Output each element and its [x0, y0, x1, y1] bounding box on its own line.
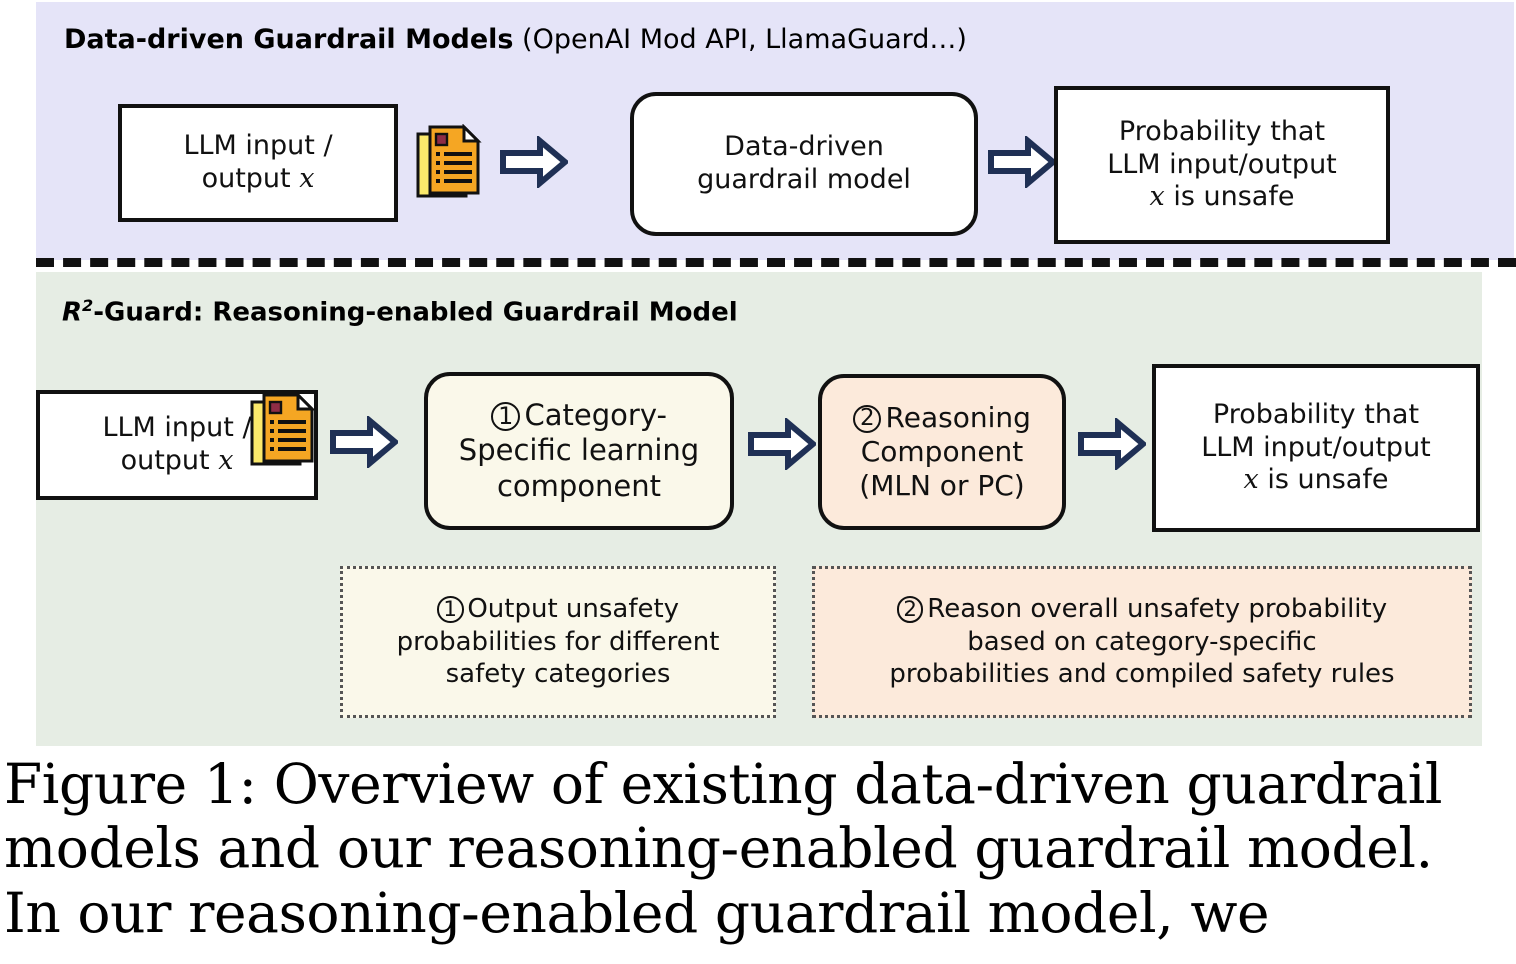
category-component-line1: Category-	[525, 398, 667, 432]
step-2-note-line1: Reason overall unsafety probability	[927, 594, 1387, 624]
reasoning-component-line1: Reasoning	[886, 401, 1031, 434]
output-line2-top: LLM input/output	[1107, 149, 1337, 180]
section-divider	[36, 258, 1516, 267]
step-1-note-text: 1Output unsafety probabilities for diffe…	[397, 593, 720, 691]
output-probability-box-bottom: Probability that LLM input/output x is u…	[1152, 364, 1480, 532]
right-arrow-icon	[988, 136, 1056, 192]
step-1-note-line3: safety categories	[446, 659, 671, 689]
output-probability-text-top: Probability that LLM input/output x is u…	[1099, 116, 1345, 215]
r2guard-title-r: R	[62, 298, 82, 328]
llm-input-line2-top: output	[202, 163, 300, 194]
caption-line-3: In our reasoning-enabled guardrail model…	[4, 881, 1516, 945]
output-probability-text-bottom: Probability that LLM input/output x is u…	[1193, 399, 1439, 498]
data-driven-model-line2: guardrail model	[697, 164, 911, 195]
output-line3-bottom: is unsafe	[1259, 464, 1389, 495]
llm-input-box-top: LLM input / output x	[118, 104, 398, 222]
step-1-badge: 1	[491, 402, 520, 431]
output-line2-bottom: LLM input/output	[1201, 432, 1431, 463]
category-specific-learning-component-box: 1Category- Specific learning component	[424, 372, 734, 530]
step-1-note-line2: probabilities for different	[397, 627, 720, 657]
llm-input-box-top-text: LLM input / output x	[175, 130, 340, 196]
reasoning-component-text: 2Reasoning Component (MLN or PC)	[845, 401, 1039, 503]
output-line1-bottom: Probability that	[1213, 399, 1419, 430]
data-driven-title-bold: Data-driven Guardrail Models	[64, 24, 513, 55]
step-2-note-line2: based on category-specific	[967, 627, 1316, 657]
data-driven-title-rest: (OpenAI Mod API, LlamaGuard…)	[513, 24, 966, 55]
llm-input-line1-bottom: LLM input /	[102, 412, 251, 443]
output-var-bottom: x	[1244, 464, 1259, 495]
figure-caption: Figure 1: Overview of existing data-driv…	[4, 752, 1516, 945]
step-1-note: 1Output unsafety probabilities for diffe…	[340, 566, 776, 718]
document-icon	[250, 392, 318, 472]
reasoning-component-box: 2Reasoning Component (MLN or PC)	[818, 374, 1066, 530]
llm-input-var-top: x	[299, 163, 314, 194]
data-driven-model-text: Data-driven guardrail model	[689, 131, 919, 197]
r2guard-title-rest: -Guard: Reasoning-enabled Guardrail Mode…	[93, 298, 737, 328]
output-line1-top: Probability that	[1119, 116, 1325, 147]
data-driven-guardrail-model-box: Data-driven guardrail model	[630, 92, 978, 236]
r2guard-title-superscript: 2	[82, 296, 93, 315]
reasoning-component-line3: (MLN or PC)	[859, 469, 1024, 502]
category-component-line2: Specific learning	[459, 433, 699, 467]
llm-input-line1-top: LLM input /	[183, 130, 332, 161]
step-2-badge: 2	[853, 405, 881, 433]
right-arrow-icon	[1078, 418, 1146, 474]
step-2-note-text: 2Reason overall unsafety probability bas…	[889, 593, 1394, 691]
right-arrow-icon	[748, 418, 816, 474]
right-arrow-icon	[330, 416, 398, 472]
step-1-note-badge: 1	[437, 596, 464, 623]
step-1-note-line1: Output unsafety	[467, 594, 679, 624]
figure-root: Data-driven Guardrail Models (OpenAI Mod…	[0, 0, 1516, 964]
right-arrow-icon	[500, 136, 568, 192]
caption-line-2: models and our reasoning-enabled guardra…	[4, 816, 1516, 880]
step-2-note-line3: probabilities and compiled safety rules	[889, 659, 1394, 689]
reasoning-component-line2: Component	[861, 435, 1024, 468]
caption-line-1: Figure 1: Overview of existing data-driv…	[4, 752, 1516, 816]
data-driven-section-title: Data-driven Guardrail Models (OpenAI Mod…	[64, 24, 967, 55]
output-var-top: x	[1150, 181, 1165, 212]
output-line3-top: is unsafe	[1165, 181, 1295, 212]
category-component-text: 1Category- Specific learning component	[451, 398, 707, 504]
document-icon	[416, 124, 484, 204]
step-2-note-badge: 2	[897, 596, 924, 623]
llm-input-var-bottom: x	[218, 445, 233, 476]
llm-input-line2-bottom: output	[121, 445, 219, 476]
llm-input-box-bottom-text: LLM input / output x	[94, 412, 259, 478]
category-component-line3: component	[497, 469, 661, 503]
step-2-note: 2Reason overall unsafety probability bas…	[812, 566, 1472, 718]
r2guard-section-title: R2-Guard: Reasoning-enabled Guardrail Mo…	[62, 296, 738, 328]
data-driven-model-line1: Data-driven	[724, 131, 884, 162]
output-probability-box-top: Probability that LLM input/output x is u…	[1054, 86, 1390, 244]
